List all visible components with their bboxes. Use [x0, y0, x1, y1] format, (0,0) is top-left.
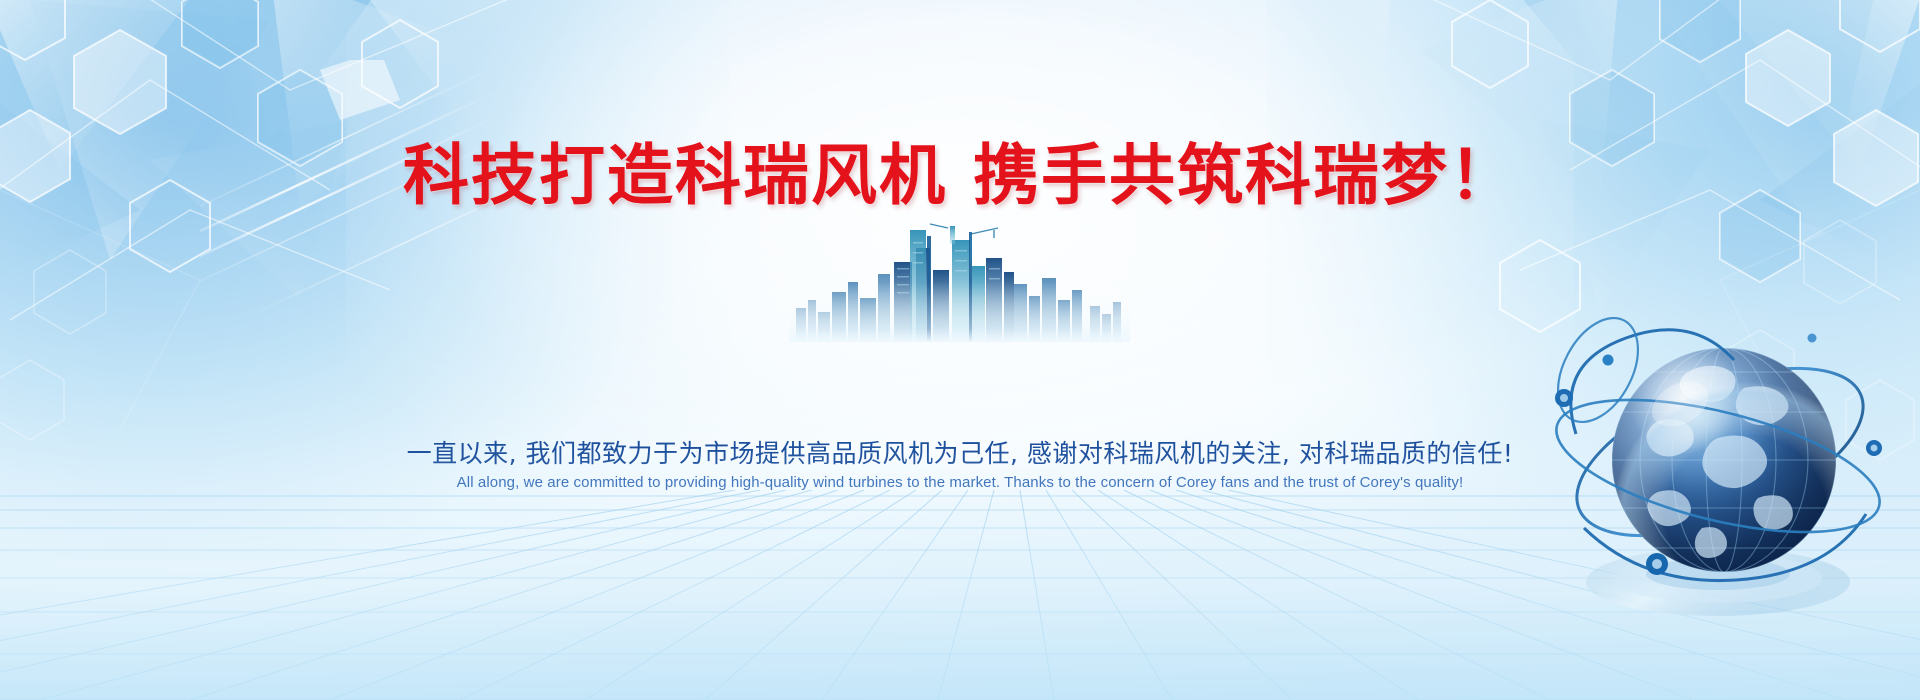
- banner-headline: 科技打造科瑞风机携手共筑科瑞梦！: [0, 122, 1920, 218]
- city-skyline-graphic: [790, 222, 1130, 342]
- headline-part-2: 携手共筑科瑞梦！: [973, 137, 1517, 214]
- subtitle-chinese: 一直以来, 我们都致力于为市场提供高品质风机为己任, 感谢对科瑞风机的关注, 对…: [0, 434, 1920, 470]
- headline-part-1: 科技打造科瑞风机: [403, 137, 947, 214]
- hero-banner: 科技打造科瑞风机携手共筑科瑞梦！: [0, 0, 1920, 700]
- subtitle-english: All along, we are committed to providing…: [0, 474, 1920, 491]
- perspective-grid-floor: [0, 490, 1920, 700]
